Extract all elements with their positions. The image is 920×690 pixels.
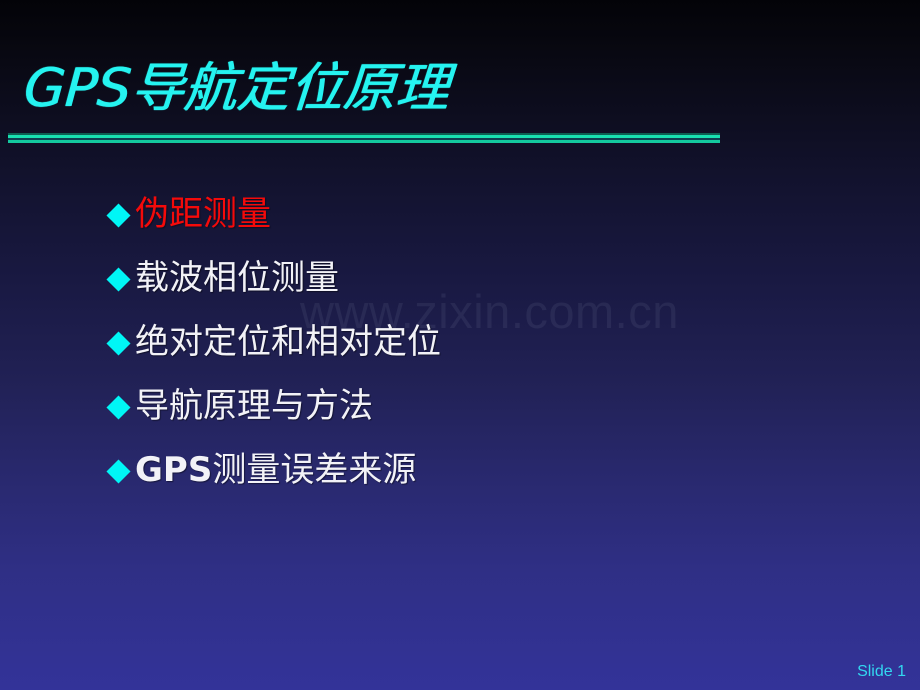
bullet-label-absolute-relative-positioning: 绝对定位和相对定位 <box>135 325 441 359</box>
bullet-label-pseudorange: 伪距测量 <box>135 197 271 231</box>
diamond-bullet-icon <box>106 267 130 291</box>
list-item: 导航原理与方法 <box>110 374 441 438</box>
diamond-bullet-icon <box>106 459 130 483</box>
slide-title-text: GPS导航定位原理 <box>22 60 451 117</box>
slide-title: GPS导航定位原理 <box>22 60 447 117</box>
list-item: 绝对定位和相对定位 <box>110 310 441 374</box>
bullet-label-carrier-phase: 载波相位测量 <box>135 261 339 295</box>
divider-line-4 <box>8 140 720 143</box>
diamond-bullet-icon <box>106 203 130 227</box>
slide-number-label: Slide 1 <box>857 663 906 681</box>
list-item: 伪距测量 <box>110 182 441 246</box>
bullet-label-gps-error-sources-lead: GPS <box>135 450 212 490</box>
bullet-label-gps-error-sources-rest: 测量误差来源 <box>212 450 416 490</box>
bullet-label-gps-error-sources: GPS测量误差来源 <box>135 453 416 487</box>
list-item: 载波相位测量 <box>110 246 441 310</box>
presentation-slide: www.zixin.com.cn GPS导航定位原理 伪距测量 载波相位测量 绝… <box>0 0 920 690</box>
list-item: GPS测量误差来源 <box>110 438 441 502</box>
diamond-bullet-icon <box>106 331 130 355</box>
bullet-label-navigation-principles: 导航原理与方法 <box>135 389 373 423</box>
diamond-bullet-icon <box>106 395 130 419</box>
bullet-list: 伪距测量 载波相位测量 绝对定位和相对定位 导航原理与方法 GPS测量误差来源 <box>110 182 441 502</box>
title-divider-rule <box>8 133 720 144</box>
